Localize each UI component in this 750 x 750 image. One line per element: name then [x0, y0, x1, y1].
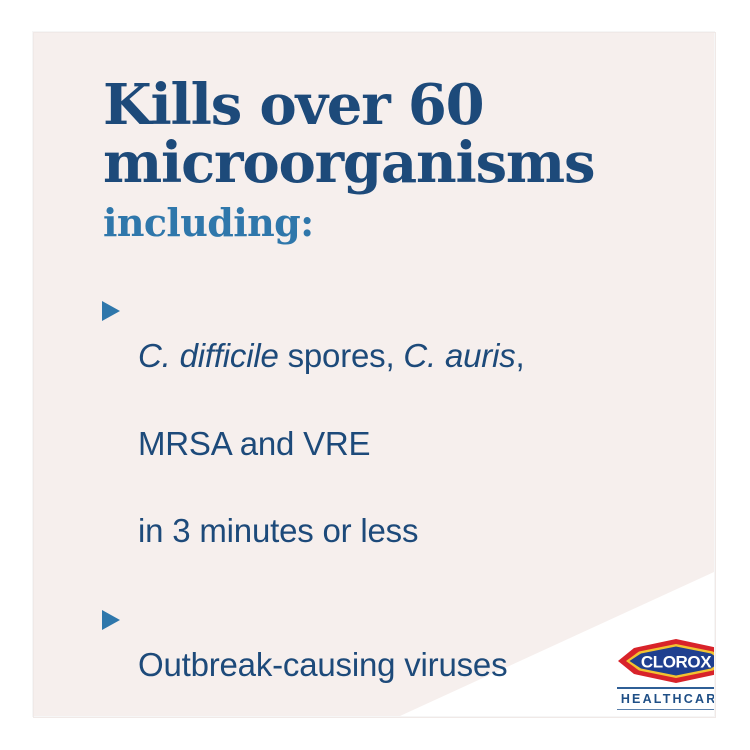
logo-division-text: HEALTHCARE: [621, 692, 714, 706]
bullet-2-line1: Outbreak-causing viruses: [138, 646, 507, 683]
feature-list: C. difficile spores, C. auris, MRSA and …: [101, 290, 691, 716]
svg-text:CLOROX: CLOROX: [641, 653, 712, 672]
list-item: Outbreak-causing viruses such as Influen…: [101, 599, 691, 716]
logo-divider-top: [617, 687, 714, 689]
clorox-diamond-icon: CLOROX: [617, 638, 714, 684]
triangle-right-bullet-icon: [101, 609, 121, 631]
list-item: C. difficile spores, C. auris, MRSA and …: [101, 290, 691, 553]
list-item-text: C. difficile spores, C. auris, MRSA and …: [138, 290, 524, 553]
pathogen-name-c-difficile: C. difficile: [138, 337, 279, 374]
list-item-text: Outbreak-causing viruses such as Influen…: [138, 599, 507, 716]
pathogen-name-c-auris: C. auris: [403, 337, 515, 374]
triangle-right-bullet-icon: [101, 300, 121, 322]
bullet-1-line3: in 3 minutes or less: [138, 512, 418, 549]
clorox-healthcare-logo: CLOROX HEALTHCARE® FROM CLOROX PRO ®: [615, 638, 714, 716]
logo-divider-bottom: [617, 709, 714, 710]
product-feature-card-canvas: Kills over 60 microorganisms including: …: [0, 0, 750, 750]
subtitle: including:: [103, 202, 673, 244]
bullet-1-line1-mid: spores,: [279, 337, 404, 374]
bullet-1-line2: MRSA and VRE: [138, 425, 370, 462]
product-feature-card: Kills over 60 microorganisms including: …: [33, 32, 714, 716]
bullet-1-line1-end: ,: [516, 337, 525, 374]
logo-division-label: HEALTHCARE®: [615, 692, 714, 706]
headline-block: Kills over 60 microorganisms including:: [103, 76, 673, 244]
page-title: Kills over 60 microorganisms: [103, 76, 673, 192]
